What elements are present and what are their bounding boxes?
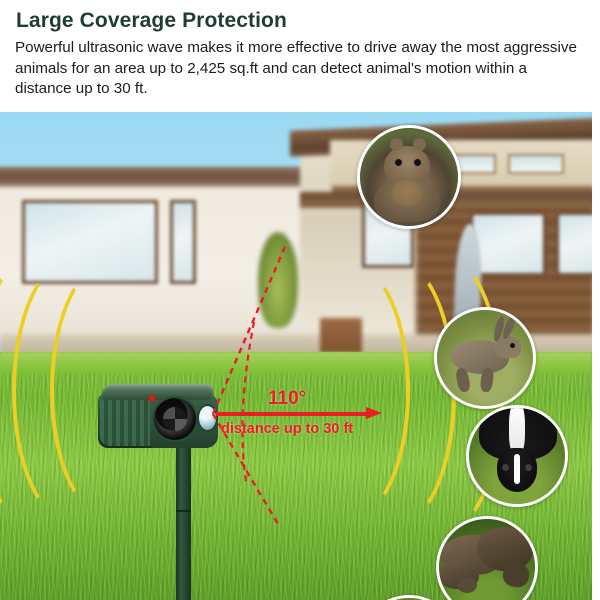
text-block: Large Coverage Protection Powerful ultra… <box>0 0 600 112</box>
detection-cone <box>150 224 440 524</box>
animal-circle-wild-boar <box>436 516 538 600</box>
arrow-shaft <box>216 412 368 416</box>
page-title: Large Coverage Protection <box>16 9 287 33</box>
skunk-photo <box>469 408 565 504</box>
description-text: Powerful ultrasonic wave makes it more e… <box>15 38 585 100</box>
product-feature-image: Large Coverage Protection Powerful ultra… <box>0 0 600 600</box>
product-photo: 110° distance up to 30 ft <box>0 112 592 600</box>
arrow-head <box>366 407 382 419</box>
animal-circle-rabbit <box>434 307 536 409</box>
rabbit-photo <box>437 310 533 406</box>
cone-arc <box>242 322 254 482</box>
squirrel-photo <box>360 128 458 226</box>
animal-circle-skunk <box>466 405 568 507</box>
wild-boar-photo <box>439 519 535 600</box>
device-ribs <box>100 394 150 446</box>
distance-arrow-icon <box>216 410 382 417</box>
distance-label: distance up to 30 ft <box>221 421 353 437</box>
angle-label: 110° <box>268 388 306 410</box>
animal-circle-squirrel <box>357 125 461 229</box>
